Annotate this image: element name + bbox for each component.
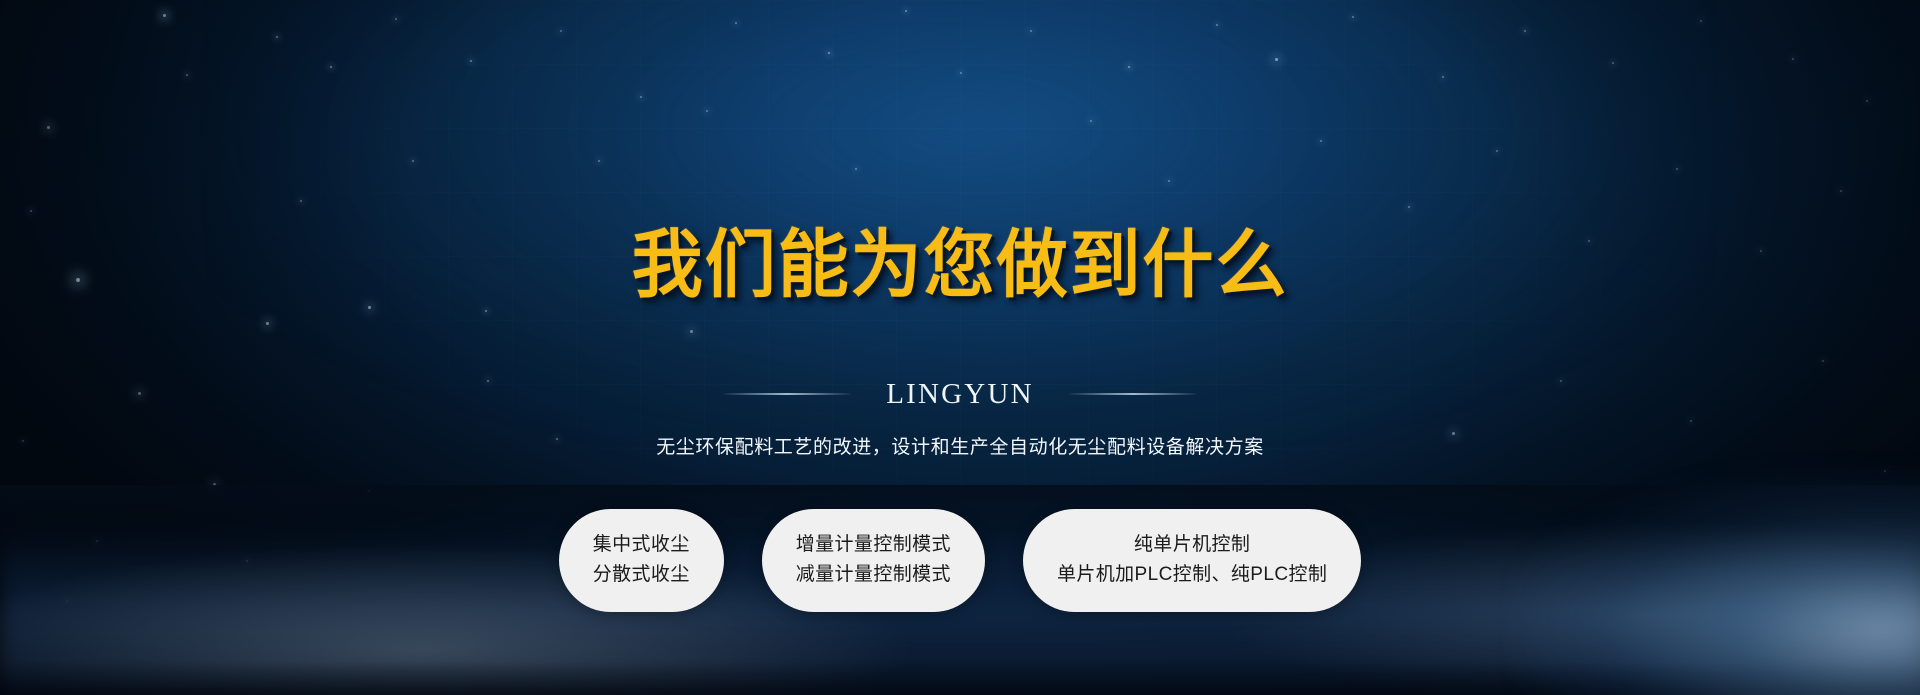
feature-pill-metering-mode[interactable]: 增量计量控制模式 减量计量控制模式	[762, 509, 985, 612]
pill-line-secondary: 单片机加PLC控制、纯PLC控制	[1057, 565, 1327, 586]
brand-name: LINGYUN	[886, 378, 1034, 411]
brand-row: LINGYUN	[0, 378, 1920, 411]
feature-pill-control-system[interactable]: 纯单片机控制 单片机加PLC控制、纯PLC控制	[1023, 509, 1361, 612]
pill-line-primary: 集中式收尘	[593, 535, 690, 556]
banner-content: 我们能为您做到什么 LINGYUN 无尘环保配料工艺的改进，设计和生产全自动化无…	[0, 0, 1920, 695]
feature-pill-dust-collection[interactable]: 集中式收尘 分散式收尘	[559, 509, 724, 612]
page-subtitle: 无尘环保配料工艺的改进，设计和生产全自动化无尘配料设备解决方案	[656, 432, 1264, 459]
brand-divider-left	[724, 393, 850, 395]
page-title: 我们能为您做到什么	[632, 228, 1289, 302]
pill-line-secondary: 减量计量控制模式	[796, 565, 951, 586]
feature-pill-group: 集中式收尘 分散式收尘 增量计量控制模式 减量计量控制模式 纯单片机控制 单片机…	[559, 509, 1362, 612]
pill-line-primary: 增量计量控制模式	[796, 535, 951, 556]
banner-stage: 我们能为您做到什么 LINGYUN 无尘环保配料工艺的改进，设计和生产全自动化无…	[0, 0, 1920, 695]
brand-divider-right	[1070, 393, 1196, 395]
pill-line-secondary: 分散式收尘	[593, 565, 690, 586]
pill-line-primary: 纯单片机控制	[1134, 535, 1250, 556]
